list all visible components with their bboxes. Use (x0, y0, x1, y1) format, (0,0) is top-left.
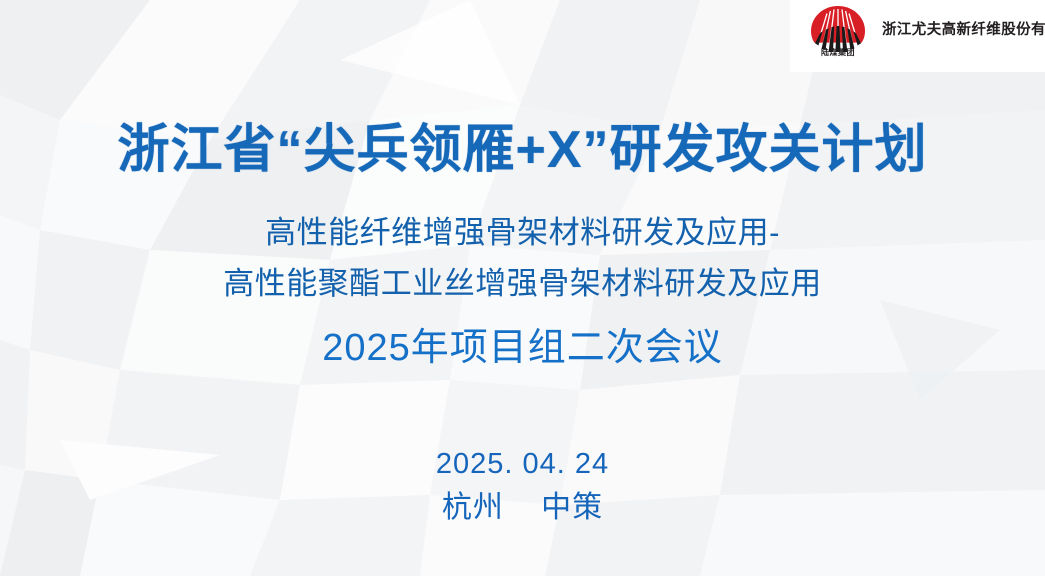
meeting-date: 2025. 04. 24 (0, 444, 1045, 484)
logo-sub-text: 陆煤集团 (804, 48, 872, 58)
company-name: 浙江尤夫高新纤维股份有限公司 (882, 18, 1045, 39)
sunburst-logo-icon (804, 2, 872, 54)
meeting-venue: 杭州 中策 (0, 487, 1045, 529)
page-title: 浙江省“尖兵领雁+X”研发攻关计划 (0, 118, 1045, 182)
slide-content: 浙江省“尖兵领雁+X”研发攻关计划 高性能纤维增强骨架材料研发及应用- 高性能聚… (0, 0, 1045, 576)
meeting-name: 2025年项目组二次会议 (0, 322, 1045, 374)
header-logo-panel: 陆煤集团 浙江尤夫高新纤维股份有限公司 (790, 0, 1045, 72)
logo-mark: 陆煤集团 (804, 2, 872, 70)
subtitle-line-1: 高性能纤维增强骨架材料研发及应用- (0, 212, 1045, 254)
subtitle-line-2: 高性能聚酯工业丝增强骨架材料研发及应用 (0, 263, 1045, 305)
presentation-slide: 陆煤集团 浙江尤夫高新纤维股份有限公司 浙江省“尖兵领雁+X”研发攻关计划 高性… (0, 0, 1045, 576)
